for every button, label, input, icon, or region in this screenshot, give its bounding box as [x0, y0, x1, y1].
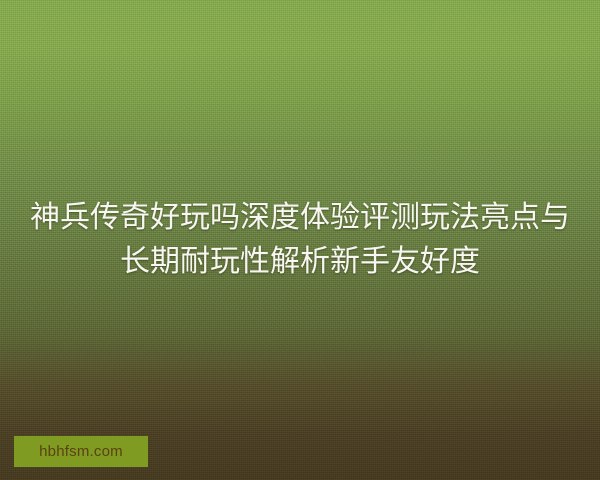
watermark-site-label: hbhfsm.com: [39, 444, 123, 459]
headline-text: 神兵传奇好玩吗深度体验评测玩法亮点与 长期耐玩性解析新手友好度: [0, 196, 600, 284]
watermark-badge: hbhfsm.com: [14, 436, 148, 467]
image-canvas: 神兵传奇好玩吗深度体验评测玩法亮点与 长期耐玩性解析新手友好度 hbhfsm.c…: [0, 0, 600, 480]
